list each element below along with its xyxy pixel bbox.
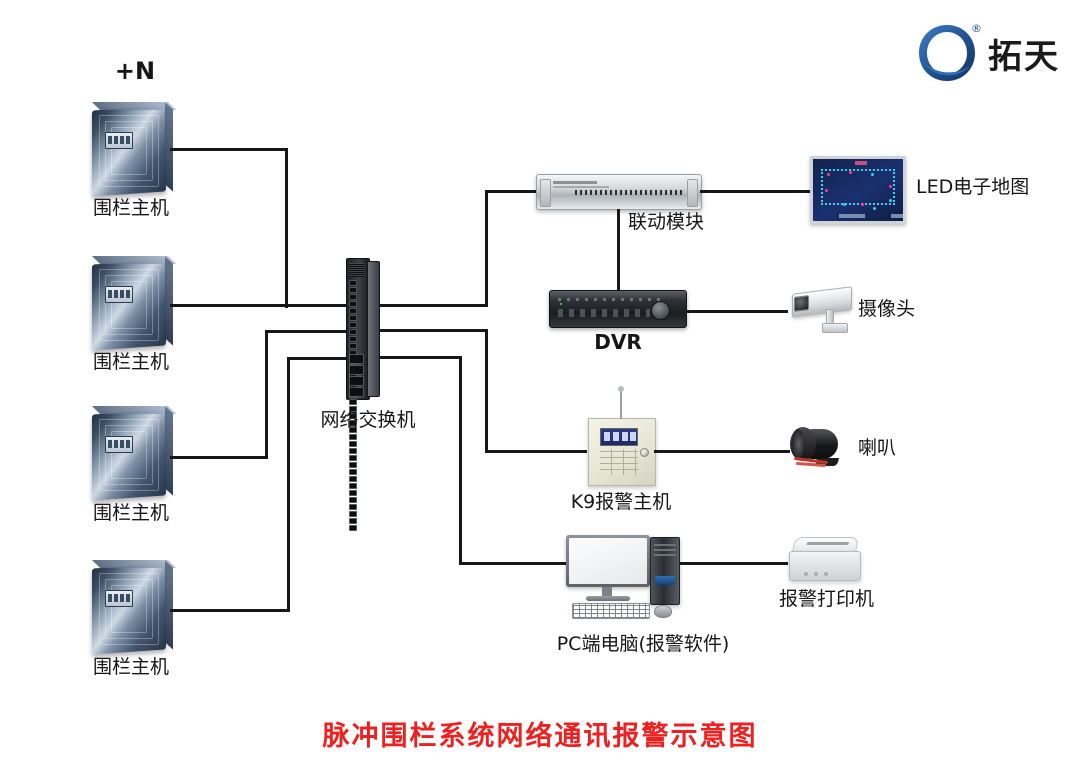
dvr-label: DVR [594, 331, 641, 353]
wire-pc-printer [680, 562, 788, 565]
fence-host-1-label: 围栏主机 [93, 198, 169, 219]
wire-fence3-h [170, 456, 268, 459]
diagram-canvas: ® 拓天 +N 围栏主机 围栏主机 围栏主机 [0, 0, 1080, 772]
wire-fence1-h [170, 148, 288, 151]
wire-switch-pc-v [459, 356, 462, 564]
wire-k9-speaker [654, 450, 790, 453]
wire-switch-linkage-v [485, 191, 488, 307]
wire-switch-pc-h2 [459, 562, 569, 565]
page-title: 脉冲围栏系统网络通讯报警示意图 [323, 714, 758, 753]
wire-fence4-v [287, 357, 290, 611]
wire-switch-pc-h [380, 356, 462, 359]
led-map-icon [810, 156, 906, 224]
wire-dvr-camera [686, 310, 788, 313]
led-map-label: LED电子地图 [916, 177, 1029, 198]
wire-switch-k9-h2 [485, 450, 587, 453]
wire-fence3-h2 [265, 330, 348, 333]
wire-switch-linkage-h2 [485, 190, 537, 193]
tuotian-logo-icon: ® [916, 22, 978, 84]
wire-fence1-v [285, 148, 288, 308]
wire-fence3-v [265, 330, 268, 458]
fence-host-icon [92, 108, 166, 194]
dvr-icon [549, 290, 687, 328]
fence-host-3-label: 围栏主机 [93, 503, 169, 524]
network-switch-icon [346, 258, 380, 398]
wire-switch-k9-v [485, 329, 488, 452]
registered-mark: ® [971, 22, 982, 35]
fence-host-icon [92, 412, 166, 498]
brand-logo: ® 拓天 [916, 22, 1060, 84]
wire-fence4-h2 [287, 357, 348, 360]
speaker-label: 喇叭 [858, 438, 896, 459]
desktop-computer-icon [566, 535, 696, 619]
k9-label: K9报警主机 [571, 492, 672, 513]
linkage-module-label: 联动模块 [628, 212, 704, 233]
printer-label: 报警打印机 [779, 589, 874, 610]
fence-host-4-label: 围栏主机 [93, 657, 169, 678]
switch-label: 网络交换机 [320, 410, 415, 431]
fence-host-2-label: 围栏主机 [93, 352, 169, 373]
brand-name: 拓天 [988, 29, 1060, 78]
wire-switch-linkage-h [380, 304, 488, 307]
camera-label: 摄像头 [858, 299, 915, 320]
k9-alarm-host-icon [588, 418, 656, 486]
alarm-printer-icon [789, 537, 861, 583]
wire-fence4-h [170, 609, 290, 612]
plus-n-annotation: +N [115, 58, 155, 84]
wire-switch-k9-h [380, 329, 488, 332]
pc-label: PC端电脑(报警软件) [557, 634, 730, 655]
camera-icon [786, 287, 858, 335]
fence-host-icon [92, 262, 166, 348]
wire-fence2-h [170, 304, 348, 307]
wire-linkage-ledmap [700, 190, 810, 193]
linkage-module-icon [536, 174, 702, 210]
fence-host-icon [92, 566, 166, 652]
horn-speaker-icon [790, 425, 848, 471]
